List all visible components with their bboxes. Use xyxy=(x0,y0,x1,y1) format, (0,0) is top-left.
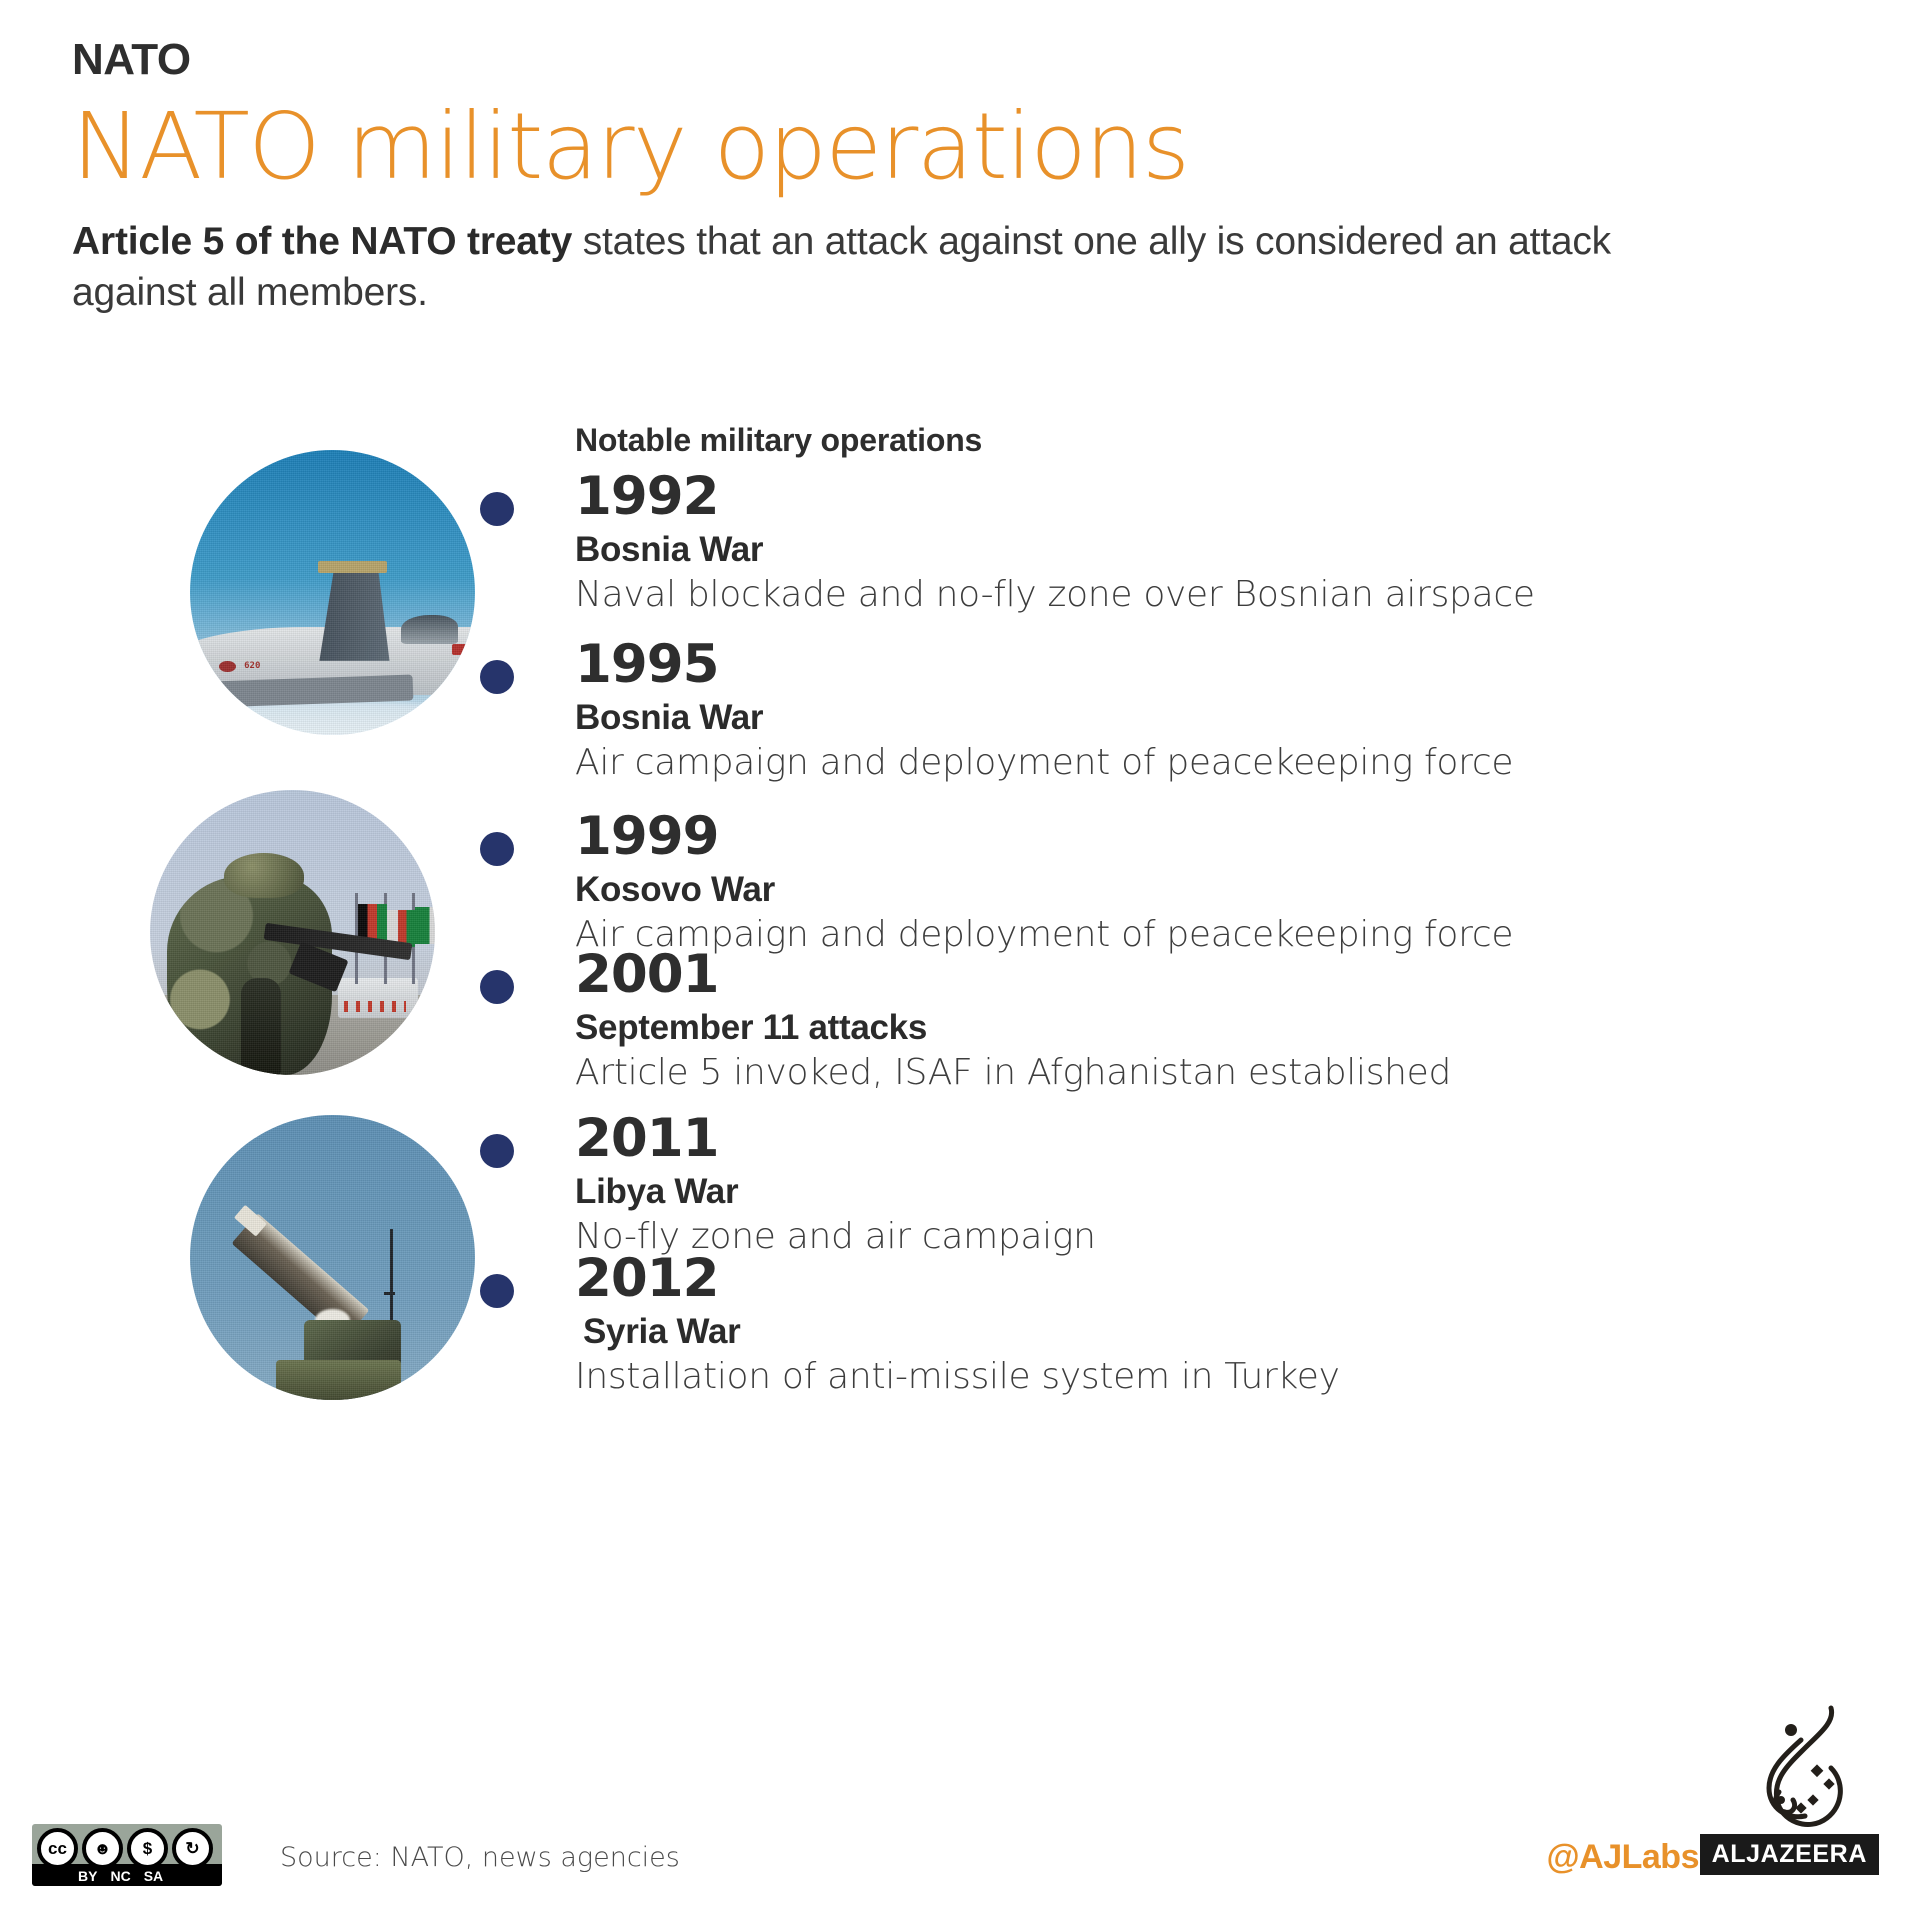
standfirst-text: Article 5 of the NATO treaty states that… xyxy=(72,216,1692,319)
bullet-dot-icon xyxy=(480,1134,514,1168)
entry-year: 2011 xyxy=(575,1112,1880,1165)
entry-year: 2001 xyxy=(575,948,1880,1001)
ajlabs-handle[interactable]: @AJLabs xyxy=(1547,1838,1699,1877)
bullet-dot-icon xyxy=(480,660,514,694)
creative-commons-badge[interactable]: cc ☻ $ ↻ BY NC SA xyxy=(32,1824,222,1886)
standfirst-bold: Article 5 of the NATO treaty xyxy=(72,220,572,263)
entry-war: Bosnia War xyxy=(575,529,1880,571)
jet-nose-marking xyxy=(452,644,475,655)
cc-icon: cc xyxy=(37,1828,78,1869)
truck-markings xyxy=(344,1001,407,1012)
entry-description: Installation of anti-missile system in T… xyxy=(575,1355,1880,1398)
bullet-dot-icon xyxy=(480,832,514,866)
bullet-dot-icon xyxy=(480,970,514,1004)
list-item: 1995 Bosnia War Air campaign and deploym… xyxy=(480,638,1880,784)
jet-tail-number: 620 xyxy=(244,661,260,671)
entry-war: Bosnia War xyxy=(575,697,1880,739)
list-item: 2011 Libya War No-fly zone and air campa… xyxy=(480,1112,1880,1258)
cc-label-row: BY NC SA xyxy=(78,1868,163,1884)
entry-war: Libya War xyxy=(575,1171,1880,1213)
soldier-photo xyxy=(150,790,435,1075)
entry-war: Syria War xyxy=(583,1311,1880,1353)
source-credit: Source: NATO, news agencies xyxy=(280,1842,680,1873)
missile-system-photo xyxy=(190,1115,475,1400)
cc-label-by: BY xyxy=(78,1868,97,1884)
aljazeera-wordmark: ALJAZEERA xyxy=(1700,1834,1879,1875)
entry-description: Naval blockade and no-fly zone over Bosn… xyxy=(575,573,1880,616)
soldier-helmet xyxy=(224,853,304,899)
entry-year: 1999 xyxy=(575,810,1880,863)
kicker-label: NATO xyxy=(72,38,1772,82)
list-item: 1992 Bosnia War Naval blockade and no-fl… xyxy=(480,470,1880,616)
flag-3-icon xyxy=(415,907,435,944)
al-jazeera-calligraphy-logo xyxy=(1739,1700,1859,1850)
military-jet-photo: 620 VY xyxy=(190,450,475,735)
share-alike-icon: ↻ xyxy=(172,1828,213,1869)
entry-war: September 11 attacks xyxy=(575,1007,1880,1049)
cc-label-nc: NC xyxy=(110,1868,130,1884)
bullet-dot-icon xyxy=(480,1274,514,1308)
no-money-icon: $ xyxy=(127,1828,168,1869)
entry-war: Kosovo War xyxy=(575,869,1880,911)
infographic-header: NATO NATO military operations Article 5 … xyxy=(72,38,1772,319)
page-title: NATO military operations xyxy=(72,100,1772,194)
list-item: 1999 Kosovo War Air campaign and deploym… xyxy=(480,810,1880,956)
jet-navy-text: VY xyxy=(196,678,209,689)
soldier-leg xyxy=(241,978,281,1075)
cc-glyph-row: cc ☻ $ ↻ xyxy=(37,1828,213,1869)
entry-description: Air campaign and deployment of peacekeep… xyxy=(575,741,1880,784)
jet-canopy xyxy=(401,615,458,644)
person-icon: ☻ xyxy=(82,1828,123,1869)
jet-roundel-icon xyxy=(219,661,236,672)
entry-year: 1995 xyxy=(575,638,1880,691)
list-heading: Notable military operations xyxy=(575,422,982,459)
entry-year: 1992 xyxy=(575,470,1880,523)
list-item: 2001 September 11 attacks Article 5 invo… xyxy=(480,948,1880,1094)
entry-year: 2012 xyxy=(575,1252,1880,1305)
entry-description: Article 5 invoked, ISAF in Afghanistan e… xyxy=(575,1051,1880,1094)
cc-label-sa: SA xyxy=(144,1868,163,1884)
launcher-platform xyxy=(276,1360,401,1400)
jet-fin-tip xyxy=(318,561,386,572)
list-item: 2012 Syria War Installation of anti-miss… xyxy=(480,1252,1880,1398)
antenna-cross xyxy=(384,1292,395,1295)
bullet-dot-icon xyxy=(480,492,514,526)
